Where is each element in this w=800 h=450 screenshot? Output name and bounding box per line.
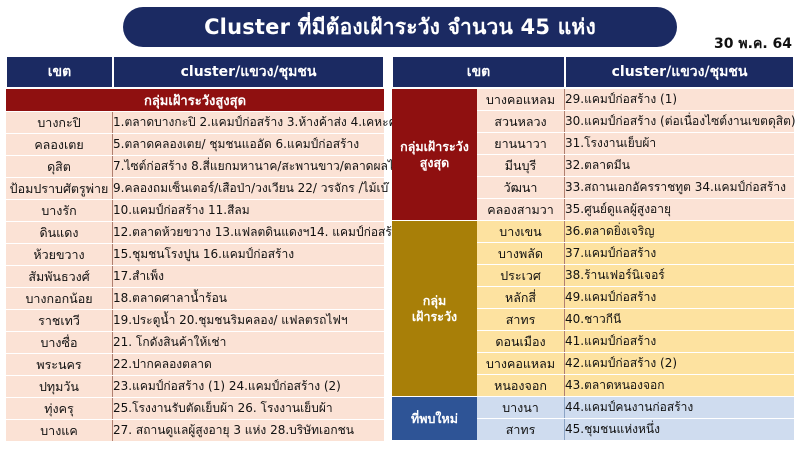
cluster-cell: 40.ชาวกีนี (565, 309, 794, 330)
table-row: บางแค27. สถานดูแลผู้สูงอายุ 3 แห่ง 28.บร… (6, 420, 384, 441)
district-cell: บางนา (477, 397, 565, 418)
table-row: คลองเตย5.ตลาดคลองเตย/ ชุมชนแออัด 6.แคมป์… (6, 134, 384, 155)
category-label-cell: กลุ่มเฝ้าระวังสูงสุด (392, 89, 477, 220)
cluster-cell: 30.แคมป์ก่อสร้าง (ต่อเนื่องไซต์งานเขตดุส… (565, 111, 794, 132)
cluster-cell: 49.แคมป์ก่อสร้าง (565, 287, 794, 308)
column-header-cluster: cluster/แขวง/ชุมชน (565, 56, 794, 88)
district-cell: มีนบุรี (477, 155, 565, 176)
district-cell: สาทร (477, 309, 565, 330)
table-row: บางรัก10.แคมป์ก่อสร้าง 11.สีลม (6, 200, 384, 221)
cluster-cell: 22.ปากคลองตลาด (113, 354, 384, 375)
table-row: บางกอกน้อย18.ตลาดศาลาน้ำร้อน (6, 288, 384, 309)
table-row: กลุ่มเฝ้าระวังบางเขน36.ตลาดยิ่งเจริญ (392, 221, 794, 242)
district-cell: บางแค (6, 420, 113, 441)
right-table-header-row: เขต cluster/แขวง/ชุมชน (392, 56, 794, 88)
district-cell: บางซื่อ (6, 332, 113, 353)
cluster-cell: 38.ร้านเฟอร์นิเจอร์ (565, 265, 794, 286)
column-header-cluster: cluster/แขวง/ชุมชน (113, 56, 384, 88)
table-row: ทุ่งครุ25.โรงงานรับตัดเย็บผ้า 26. โรงงาน… (6, 398, 384, 419)
cluster-cell: 12.ตลาดห้วยขวาง 13.แฟลตดินแดงฯ14. แคมป์ก… (113, 222, 384, 243)
cluster-cell: 9.คลองถมเซ็นเตอร์/เสือป่า/วงเวียน 22/ วร… (113, 178, 384, 199)
category-label-line1: กลุ่ม (392, 293, 477, 309)
cluster-cell: 1.ตลาดบางกะปิ 2.แคมป์ก่อสร้าง 3.ห้างค้าส… (113, 112, 384, 133)
cluster-cell: 19.ประตูน้ำ 20.ชุมชนริมคลอง/ แฟลตรถไฟฯ (113, 310, 384, 331)
left-cluster-table: เขต cluster/แขวง/ชุมชน กลุ่มเฝ้าระวังสูง… (6, 55, 384, 442)
table-row: ดุสิต7.ไซต์ก่อสร้าง 8.สี่แยกมหานาค/สะพาน… (6, 156, 384, 177)
district-cell: วัฒนา (477, 177, 565, 198)
district-cell: คลองสามวา (477, 199, 565, 220)
cluster-cell: 44.แคมป์คนงานก่อสร้าง (565, 397, 794, 418)
category-label-line1: กลุ่มเฝ้าระวัง (392, 139, 477, 155)
category-band-row: กลุ่มเฝ้าระวังสูงสุด (6, 89, 384, 111)
cluster-cell: 25.โรงงานรับตัดเย็บผ้า 26. โรงงานเย็บผ้า (113, 398, 384, 419)
cluster-cell: 29.แคมป์ก่อสร้าง (1) (565, 89, 794, 110)
category-label-cell: ที่พบใหม่ (392, 397, 477, 440)
infographic-page: Cluster ที่มีต้องเฝ้าระวัง จำนวน 45 แห่ง… (0, 0, 800, 450)
district-cell: บางกอกน้อย (6, 288, 113, 309)
category-band-highest: กลุ่มเฝ้าระวังสูงสุด (6, 89, 384, 111)
district-cell: หลักสี่ (477, 287, 565, 308)
table-row: ราชเทวี19.ประตูน้ำ 20.ชุมชนริมคลอง/ แฟลต… (6, 310, 384, 331)
table-row: พระนคร22.ปากคลองตลาด (6, 354, 384, 375)
district-cell: ดอนเมือง (477, 331, 565, 352)
district-cell: สัมพันธวงศ์ (6, 266, 113, 287)
cluster-cell: 42.แคมป์ก่อสร้าง (2) (565, 353, 794, 374)
cluster-cell: 35.ศูนย์ดูแลผู้สูงอายุ (565, 199, 794, 220)
cluster-cell: 31.โรงงานเย็บผ้า (565, 133, 794, 154)
cluster-cell: 23.แคมป์ก่อสร้าง (1) 24.แคมป์ก่อสร้าง (2… (113, 376, 384, 397)
district-cell: ประเวศ (477, 265, 565, 286)
table-row: กลุ่มเฝ้าระวังสูงสุดบางคอแหลม29.แคมป์ก่อ… (392, 89, 794, 110)
cluster-cell: 21. โกดังสินค้าให้เช่า (113, 332, 384, 353)
right-table-body: กลุ่มเฝ้าระวังสูงสุดบางคอแหลม29.แคมป์ก่อ… (392, 89, 794, 440)
column-header-district: เขต (392, 56, 565, 88)
cluster-cell: 45.ชุมชนแห่งหนึ่ง (565, 419, 794, 440)
cluster-cell: 43.ตลาดหนองจอก (565, 375, 794, 396)
district-cell: บางรัก (6, 200, 113, 221)
district-cell: ดินแดง (6, 222, 113, 243)
table-row: บางกะปิ1.ตลาดบางกะปิ 2.แคมป์ก่อสร้าง 3.ห… (6, 112, 384, 133)
date-label: 30 พ.ค. 64 (714, 33, 792, 55)
district-cell: บางคอแหลม (477, 89, 565, 110)
district-cell: บางพลัด (477, 243, 565, 264)
left-table-container: เขต cluster/แขวง/ชุมชน กลุ่มเฝ้าระวังสูง… (6, 55, 384, 442)
cluster-cell: 7.ไซต์ก่อสร้าง 8.สี่แยกมหานาค/สะพานขาว/ต… (113, 156, 384, 177)
district-cell: ปทุมวัน (6, 376, 113, 397)
table-row: บางซื่อ21. โกดังสินค้าให้เช่า (6, 332, 384, 353)
page-title: Cluster ที่มีต้องเฝ้าระวัง จำนวน 45 แห่ง (123, 7, 677, 47)
cluster-cell: 18.ตลาดศาลาน้ำร้อน (113, 288, 384, 309)
table-row: ห้วยขวาง15.ชุมชนโรงปูน 16.แคมป์ก่อสร้าง (6, 244, 384, 265)
cluster-cell: 17.สำเพ็ง (113, 266, 384, 287)
cluster-cell: 32.ตลาดมีน (565, 155, 794, 176)
category-label-line2: เฝ้าระวัง (392, 309, 477, 325)
district-cell: ทุ่งครุ (6, 398, 113, 419)
right-cluster-table: เขต cluster/แขวง/ชุมชน กลุ่มเฝ้าระวังสูง… (392, 55, 794, 441)
district-cell: สวนหลวง (477, 111, 565, 132)
left-table-header-row: เขต cluster/แขวง/ชุมชน (6, 56, 384, 88)
district-cell: สาทร (477, 419, 565, 440)
column-header-district: เขต (6, 56, 113, 88)
table-row: ที่พบใหม่บางนา44.แคมป์คนงานก่อสร้าง (392, 397, 794, 418)
cluster-cell: 10.แคมป์ก่อสร้าง 11.สีลม (113, 200, 384, 221)
category-label-line1: ที่พบใหม่ (392, 411, 477, 427)
cluster-cell: 27. สถานดูแลผู้สูงอายุ 3 แห่ง 28.บริษัทเ… (113, 420, 384, 441)
cluster-cell: 15.ชุมชนโรงปูน 16.แคมป์ก่อสร้าง (113, 244, 384, 265)
district-cell: ราชเทวี (6, 310, 113, 331)
district-cell: หนองจอก (477, 375, 565, 396)
district-cell: พระนคร (6, 354, 113, 375)
table-row: ปทุมวัน23.แคมป์ก่อสร้าง (1) 24.แคมป์ก่อส… (6, 376, 384, 397)
right-table-container: เขต cluster/แขวง/ชุมชน กลุ่มเฝ้าระวังสูง… (392, 55, 794, 441)
category-label-cell: กลุ่มเฝ้าระวัง (392, 221, 477, 396)
district-cell: บางกะปิ (6, 112, 113, 133)
table-row: สัมพันธวงศ์17.สำเพ็ง (6, 266, 384, 287)
district-cell: ห้วยขวาง (6, 244, 113, 265)
district-cell: บางคอแหลม (477, 353, 565, 374)
district-cell: ดุสิต (6, 156, 113, 177)
cluster-cell: 5.ตลาดคลองเตย/ ชุมชนแออัด 6.แคมป์ก่อสร้า… (113, 134, 384, 155)
district-cell: คลองเตย (6, 134, 113, 155)
cluster-cell: 33.สถานเอกอัครราชทูต 34.แคมป์ก่อสร้าง (565, 177, 794, 198)
district-cell: ยานนาวา (477, 133, 565, 154)
district-cell: ป้อมปราบศัตรูพ่าย (6, 178, 113, 199)
cluster-cell: 36.ตลาดยิ่งเจริญ (565, 221, 794, 242)
category-label-line2: สูงสุด (392, 155, 477, 171)
district-cell: บางเขน (477, 221, 565, 242)
cluster-cell: 37.แคมป์ก่อสร้าง (565, 243, 794, 264)
table-row: ดินแดง12.ตลาดห้วยขวาง 13.แฟลตดินแดงฯ14. … (6, 222, 384, 243)
table-row: ป้อมปราบศัตรูพ่าย9.คลองถมเซ็นเตอร์/เสือป… (6, 178, 384, 199)
left-table-body: กลุ่มเฝ้าระวังสูงสุด บางกะปิ1.ตลาดบางกะป… (6, 89, 384, 441)
cluster-cell: 41.แคมป์ก่อสร้าง (565, 331, 794, 352)
